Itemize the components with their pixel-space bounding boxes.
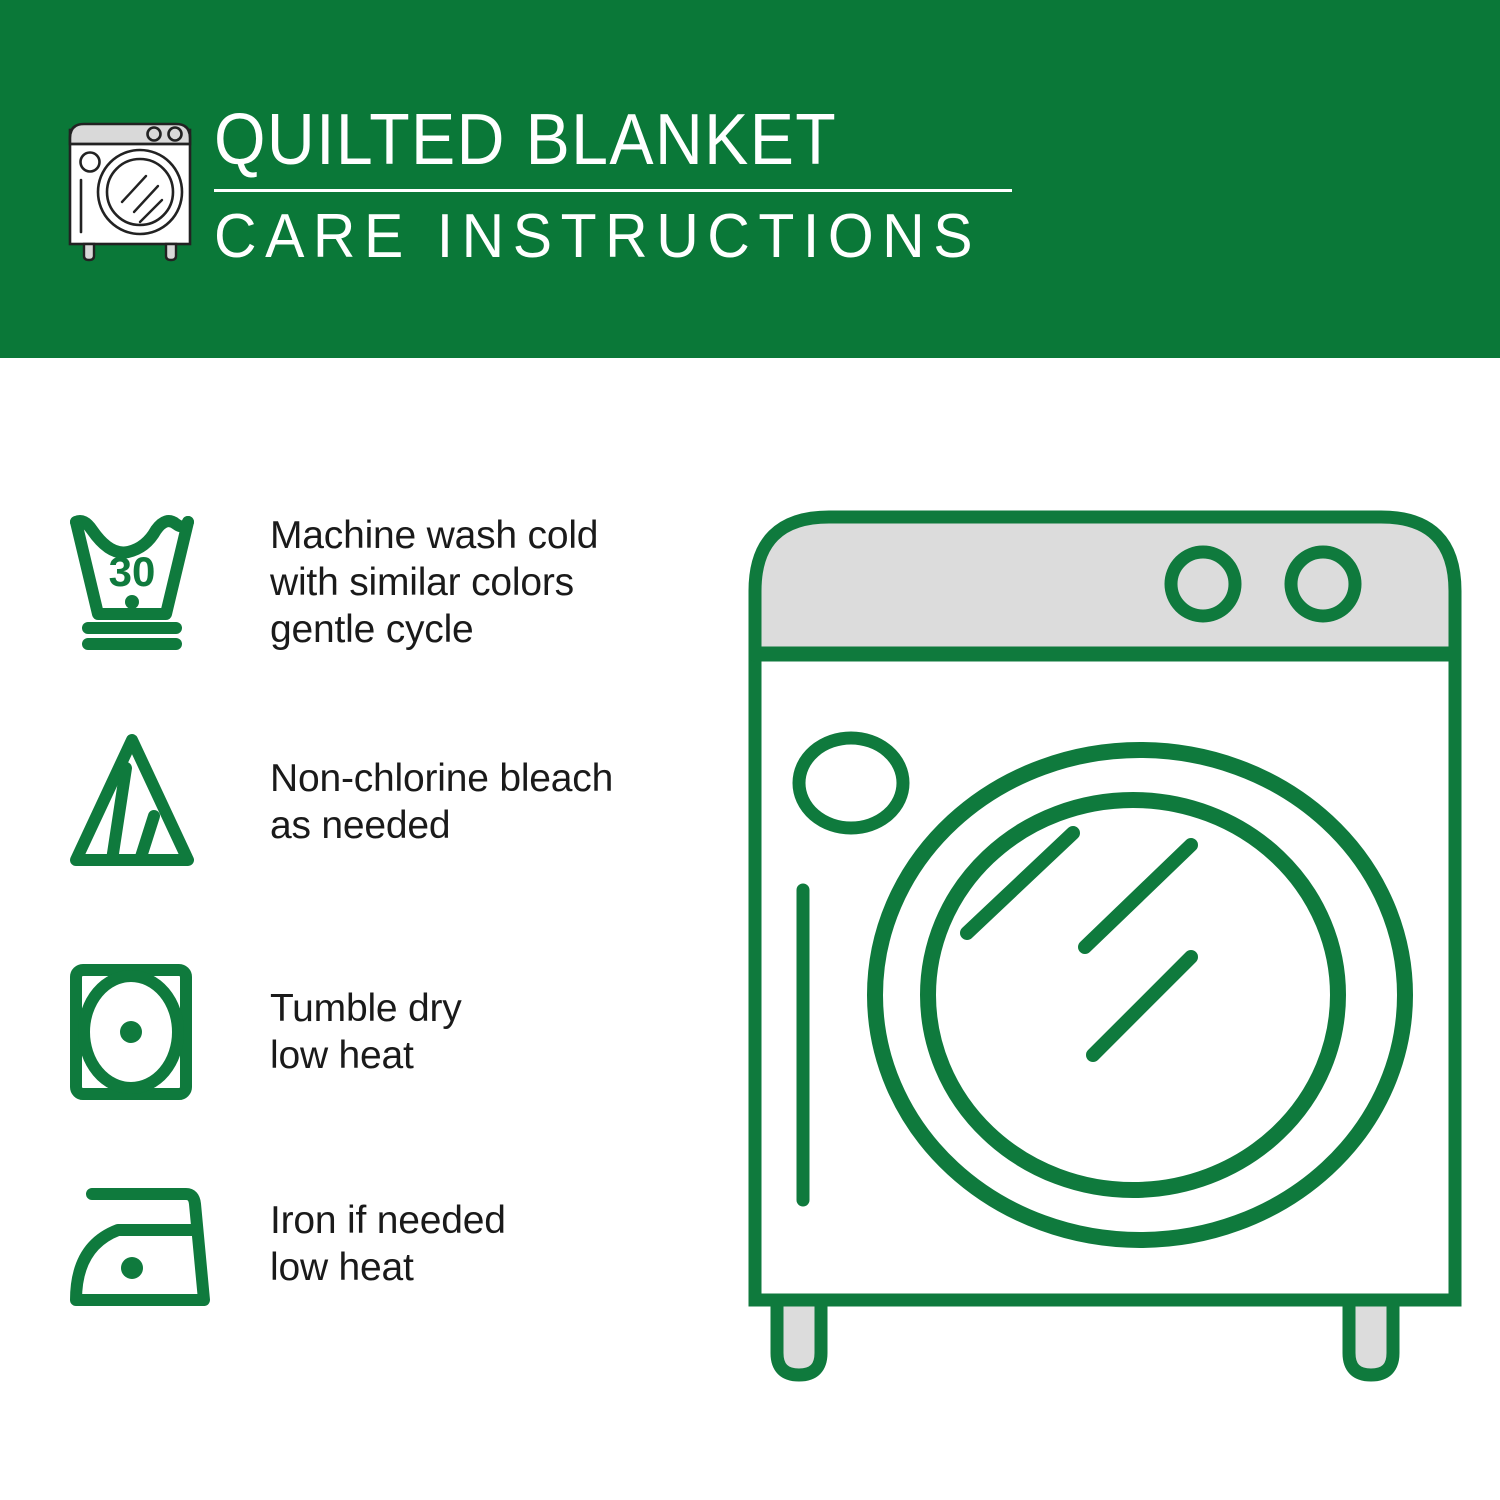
washing-machine-illustration xyxy=(735,495,1475,1425)
instruction-label-dry: Tumble dry low heat xyxy=(234,985,462,1079)
wash-temperature-value: 30 xyxy=(109,548,156,595)
tumble-dry-low-icon xyxy=(62,958,234,1106)
bleach-triangle-icon xyxy=(62,728,234,876)
instruction-item-iron: Iron if needed low heat xyxy=(62,1170,722,1318)
title-divider xyxy=(214,189,1012,192)
header-band: QUILTED BLANKET CARE INSTRUCTIONS xyxy=(0,0,1500,358)
instruction-item-wash: 30 Machine wash cold with similar colors… xyxy=(62,508,722,656)
instruction-label-iron: Iron if needed low heat xyxy=(234,1197,506,1291)
washing-machine-icon xyxy=(62,104,198,262)
page-title: QUILTED BLANKET xyxy=(214,100,959,180)
care-instructions-page: QUILTED BLANKET CARE INSTRUCTIONS 30 xyxy=(0,0,1500,1500)
page-subtitle: CARE INSTRUCTIONS xyxy=(214,201,984,273)
instruction-item-dry: Tumble dry low heat xyxy=(62,958,722,1106)
instruction-item-bleach: Non-chlorine bleach as needed xyxy=(62,728,722,876)
header-text-block: QUILTED BLANKET CARE INSTRUCTIONS xyxy=(214,100,1024,273)
iron-low-heat-icon xyxy=(62,1170,234,1318)
wash-tub-30-icon: 30 xyxy=(62,508,234,656)
instruction-label-bleach: Non-chlorine bleach as needed xyxy=(234,755,613,849)
instruction-label-wash: Machine wash cold with similar colors ge… xyxy=(234,512,598,653)
instructions-list: 30 Machine wash cold with similar colors… xyxy=(0,358,730,1500)
